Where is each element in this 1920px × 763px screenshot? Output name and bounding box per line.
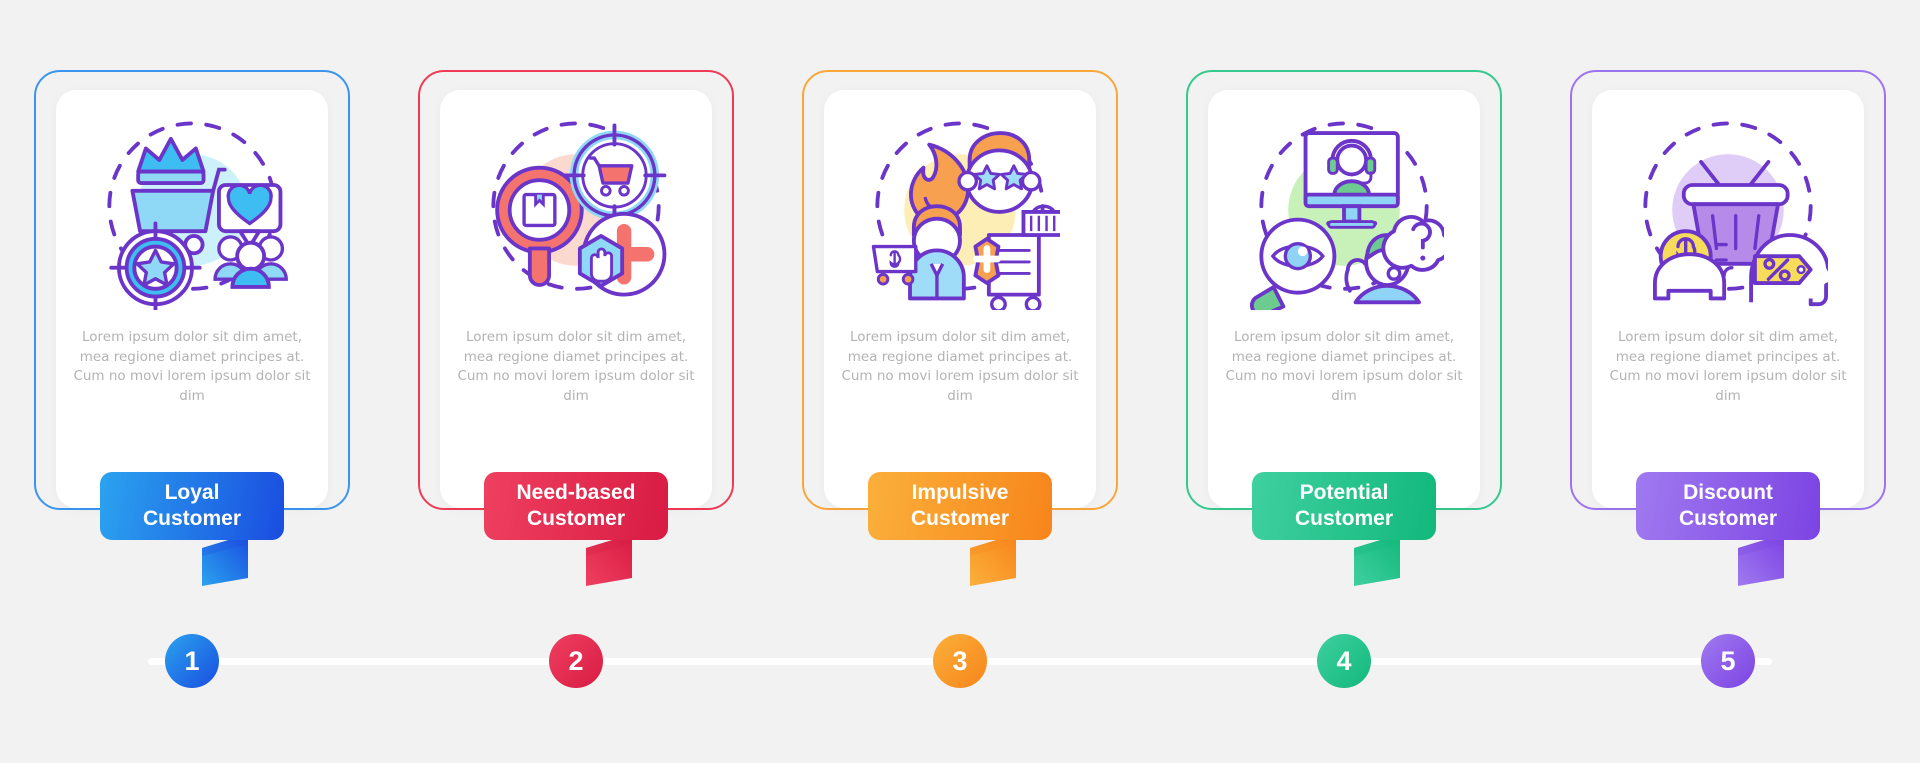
card-2[interactable]: Lorem ipsum dolor sit dim amet, mea regi…: [418, 70, 734, 510]
card-illustration: [56, 104, 328, 316]
card-illustration: [440, 104, 712, 316]
card-4[interactable]: Lorem ipsum dolor sit dim amet, mea regi…: [1186, 70, 1502, 510]
card-label-4[interactable]: PotentialCustomer: [1252, 472, 1436, 540]
card-body-text: Lorem ipsum dolor sit dim amet, mea regi…: [72, 328, 312, 406]
card-surface: Lorem ipsum dolor sit dim amet, mea regi…: [824, 90, 1096, 508]
card-1[interactable]: Lorem ipsum dolor sit dim amet, mea regi…: [34, 70, 350, 510]
card-illustration: [1208, 104, 1480, 316]
infographic-canvas: Lorem ipsum dolor sit dim amet, mea regi…: [0, 0, 1920, 763]
card-surface: Lorem ipsum dolor sit dim amet, mea regi…: [440, 90, 712, 508]
ribbon-tail: [572, 534, 668, 586]
card-label-3[interactable]: ImpulsiveCustomer: [868, 472, 1052, 540]
card-5[interactable]: Lorem ipsum dolor sit dim amet, mea regi…: [1570, 70, 1886, 510]
step-number-3[interactable]: 3: [933, 634, 987, 688]
card-surface: Lorem ipsum dolor sit dim amet, mea regi…: [1208, 90, 1480, 508]
impulsive-customer-icon: [860, 110, 1060, 310]
label-line-1: Impulsive: [912, 480, 1009, 506]
card-3[interactable]: Lorem ipsum dolor sit dim amet, mea regi…: [802, 70, 1118, 510]
cards-container: Lorem ipsum dolor sit dim amet, mea regi…: [0, 0, 1920, 763]
label-line-2: Customer: [527, 506, 625, 532]
label-line-2: Customer: [911, 506, 1009, 532]
label-line-2: Customer: [143, 506, 241, 532]
card-surface: Lorem ipsum dolor sit dim amet, mea regi…: [1592, 90, 1864, 508]
card-body-text: Lorem ipsum dolor sit dim amet, mea regi…: [840, 328, 1080, 406]
card-illustration: [824, 104, 1096, 316]
label-line-1: Discount: [1683, 480, 1773, 506]
card-surface: Lorem ipsum dolor sit dim amet, mea regi…: [56, 90, 328, 508]
card-body-text: Lorem ipsum dolor sit dim amet, mea regi…: [1608, 328, 1848, 406]
label-line-2: Customer: [1679, 506, 1777, 532]
label-line-2: Customer: [1295, 506, 1393, 532]
card-body-text: Lorem ipsum dolor sit dim amet, mea regi…: [456, 328, 696, 406]
label-line-1: Potential: [1300, 480, 1389, 506]
label-line-1: Loyal: [165, 480, 220, 506]
step-number-1[interactable]: 1: [165, 634, 219, 688]
ribbon-tail: [1724, 534, 1820, 586]
potential-customer-icon: [1244, 110, 1444, 310]
step-number-5[interactable]: 5: [1701, 634, 1755, 688]
card-body-text: Lorem ipsum dolor sit dim amet, mea regi…: [1224, 328, 1464, 406]
card-label-1[interactable]: LoyalCustomer: [100, 472, 284, 540]
loyal-customer-icon: [92, 110, 292, 310]
discount-customer-icon: [1628, 110, 1828, 310]
step-number-2[interactable]: 2: [549, 634, 603, 688]
card-illustration: [1592, 104, 1864, 316]
ribbon-tail: [188, 534, 284, 586]
ribbon-tail: [1340, 534, 1436, 586]
card-label-2[interactable]: Need-basedCustomer: [484, 472, 668, 540]
step-number-4[interactable]: 4: [1317, 634, 1371, 688]
need-based-customer-icon: [476, 110, 676, 310]
ribbon-tail: [956, 534, 1052, 586]
label-line-1: Need-based: [516, 480, 635, 506]
card-label-5[interactable]: DiscountCustomer: [1636, 472, 1820, 540]
